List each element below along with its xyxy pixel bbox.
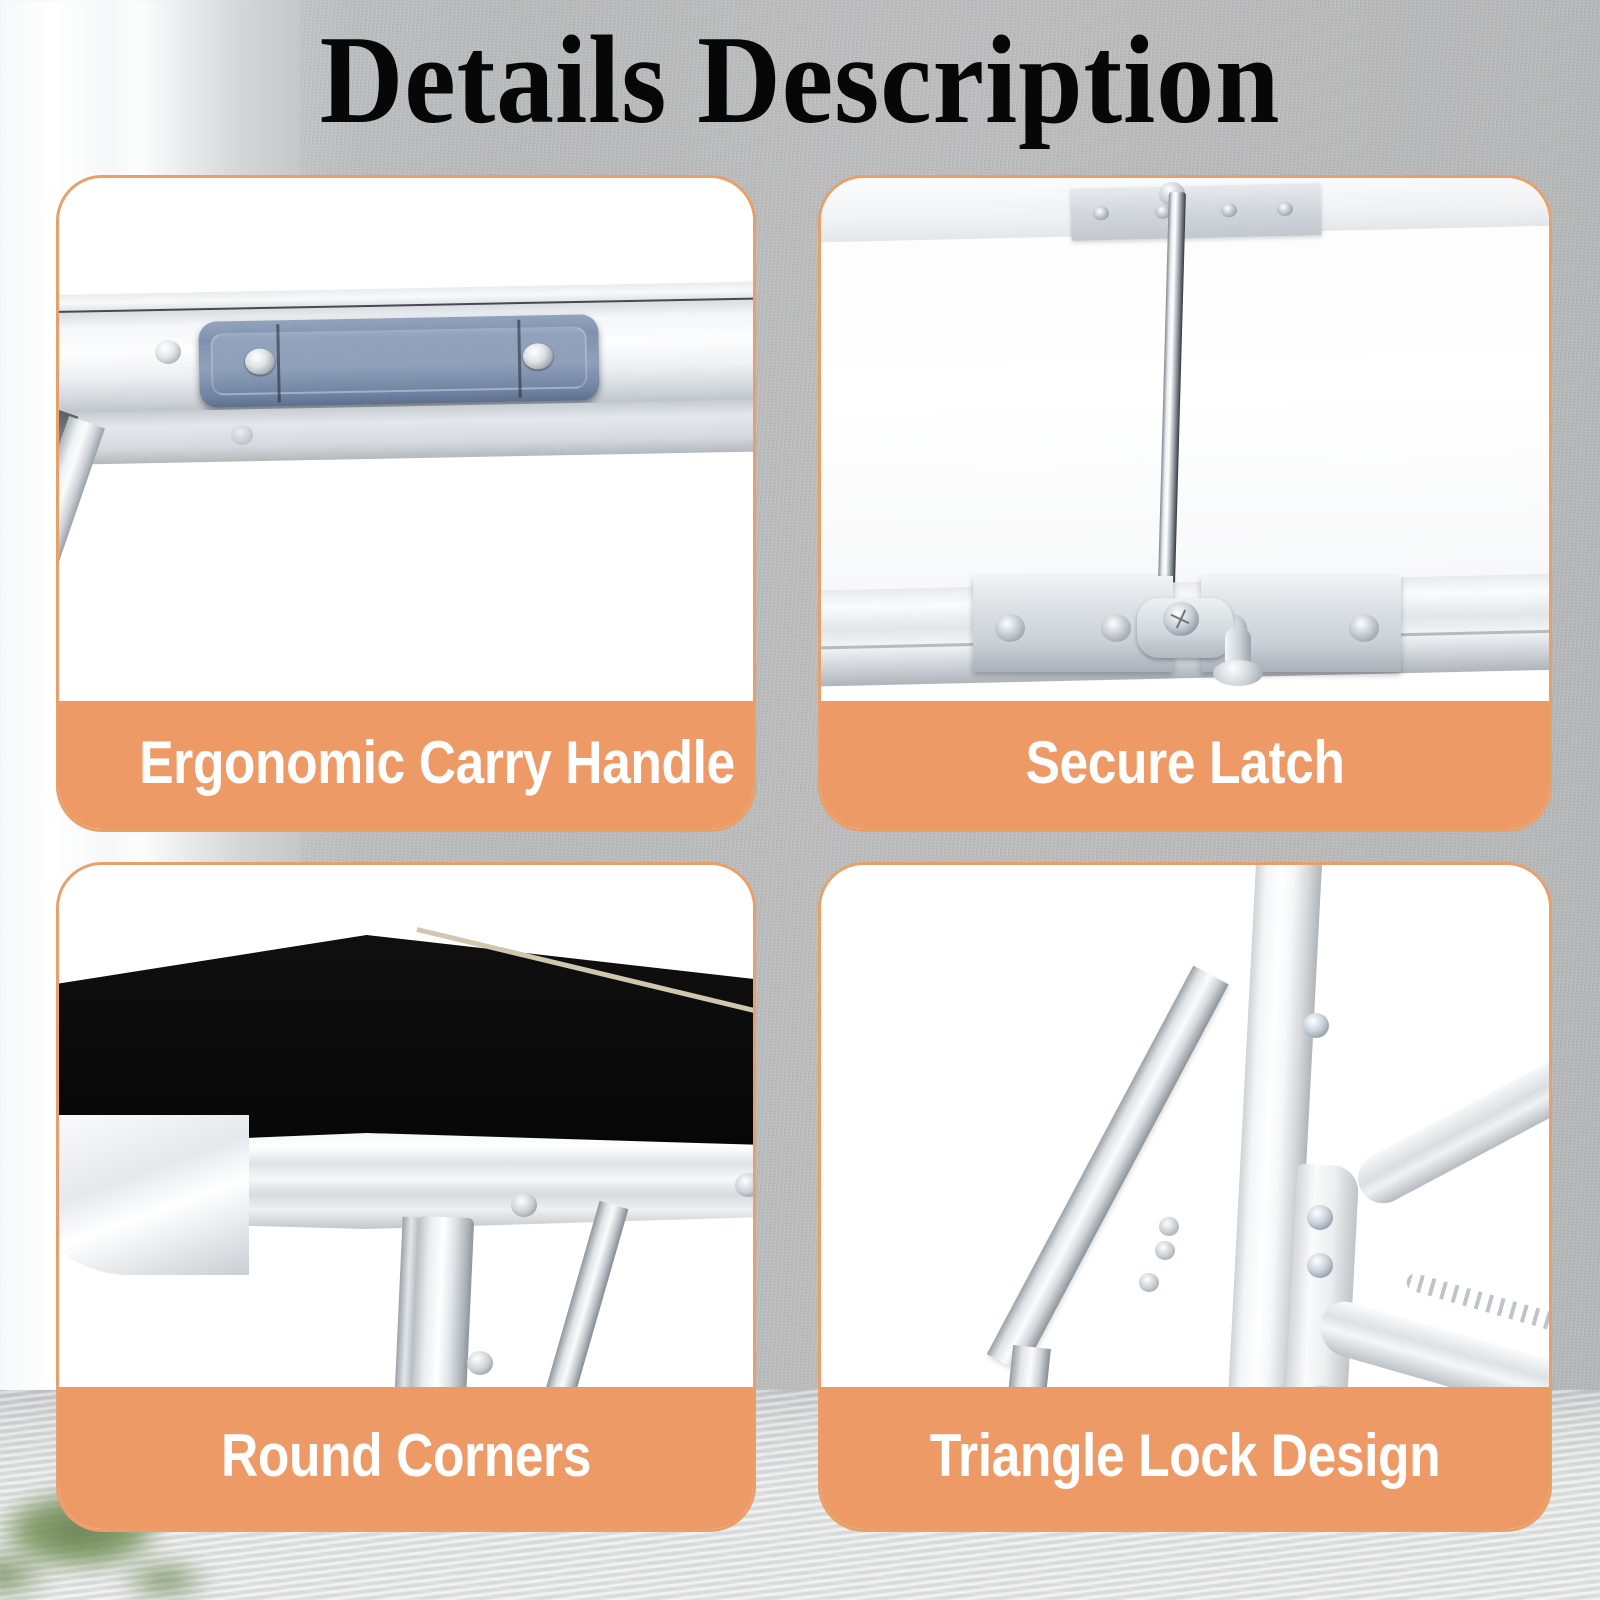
- triangle-lock-screw-3-icon: [1139, 1273, 1159, 1292]
- latch-plate-hole-4: [1277, 202, 1293, 216]
- latch-pin-head: [1213, 660, 1263, 686]
- detail-card-ergonomic-carry-handle: Ergonomic Carry Handle: [56, 175, 756, 832]
- upper-latch-plate: [1070, 183, 1321, 241]
- carry-handle: [198, 314, 600, 408]
- latch-bracket-left-hole-2: [1101, 614, 1131, 642]
- latch-bracket-right-hole-2: [1349, 614, 1379, 642]
- card-label-secure-latch: Secure Latch: [821, 701, 1549, 829]
- frame-tube-upper: [1349, 1027, 1549, 1212]
- latch-pivot-screw-icon: [1163, 602, 1199, 636]
- card-label-round-corners: Round Corners: [59, 1387, 753, 1529]
- detail-card-secure-latch: Secure Latch: [818, 175, 1552, 832]
- card-label-text: Secure Latch: [872, 728, 1498, 797]
- triangle-lock-screw-2-icon: [1155, 1241, 1175, 1260]
- rounded-corner-trim: [59, 1115, 249, 1275]
- leg-screw-1-icon: [467, 1351, 493, 1375]
- leg-sleeve-screw-1-icon: [1307, 1205, 1333, 1230]
- latch-plate-hole-3: [1221, 203, 1237, 217]
- latch-plate-hole-1: [1093, 206, 1109, 220]
- edge-screw-1-icon: [511, 1193, 537, 1217]
- photo-triangle-lock-design: [821, 865, 1549, 1387]
- triangle-lock-brace: [987, 966, 1229, 1373]
- leg-sleeve-screw-top-icon: [1303, 1013, 1329, 1038]
- tabletop-underside-panel: [821, 225, 1549, 598]
- detail-card-triangle-lock-design: Triangle Lock Design: [818, 862, 1552, 1532]
- photo-secure-latch: [821, 178, 1549, 701]
- support-brace-upper: [500, 1201, 628, 1387]
- card-label-text: Round Corners: [108, 1421, 705, 1490]
- lower-rail-rivet-left-icon: [231, 425, 253, 445]
- photo-ergonomic-carry-handle: [59, 178, 753, 701]
- photo-round-corners: [59, 865, 753, 1387]
- detail-card-round-corners: Round Corners: [56, 862, 756, 1532]
- leg-sleeve-screw-2-icon: [1307, 1253, 1333, 1278]
- card-label-ergonomic-carry-handle: Ergonomic Carry Handle: [59, 701, 753, 829]
- product-detail-image: Details Description Ergonomic Carry Hand…: [0, 0, 1600, 1600]
- card-label-text: Triangle Lock Design: [872, 1421, 1498, 1490]
- card-label-triangle-lock-design: Triangle Lock Design: [821, 1387, 1549, 1529]
- triangle-lock-screw-1-icon: [1159, 1217, 1179, 1236]
- card-label-text: Ergonomic Carry Handle: [139, 728, 707, 797]
- page-title: Details Description: [64, 18, 1536, 144]
- latch-bracket-left-hole-1: [995, 614, 1025, 642]
